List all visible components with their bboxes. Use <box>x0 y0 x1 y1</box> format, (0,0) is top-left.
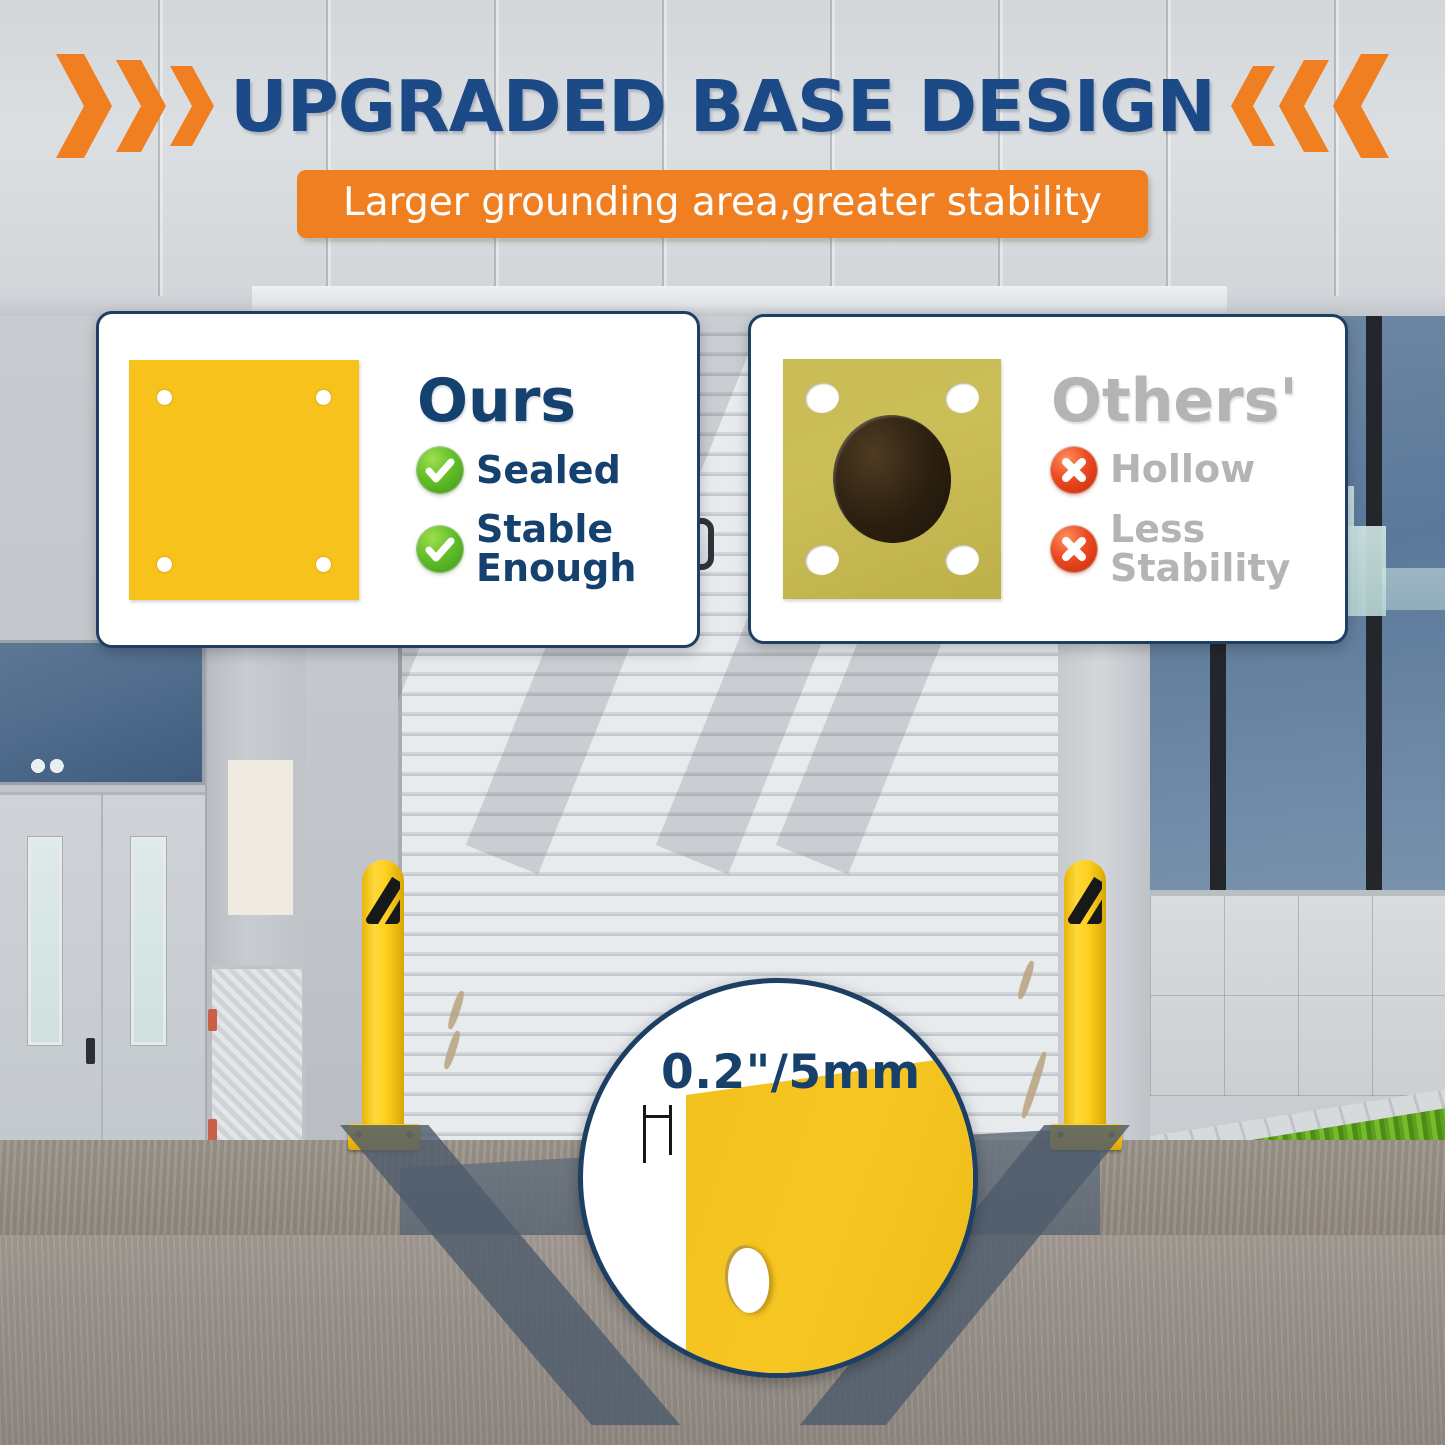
bolt-hole <box>803 380 842 415</box>
bolt-hole <box>803 542 842 577</box>
others-feature-row: Hollow <box>1051 447 1327 493</box>
ours-feature-label: Stable Enough <box>476 510 636 588</box>
bollard-hazard-stripe <box>366 872 400 924</box>
cream-wall-panel <box>228 760 293 915</box>
others-feature-label: Less Stability <box>1110 510 1290 588</box>
others-feature-label: Hollow <box>1110 450 1255 489</box>
bolt-hole <box>157 390 172 405</box>
door-leaf-right <box>103 795 206 1142</box>
ours-feature-label: Sealed <box>476 451 621 490</box>
others-card-title: Others' <box>1051 371 1327 431</box>
ours-card-body: Ours Sealed Stable Enough <box>359 371 679 588</box>
ours-comparison-card: Ours Sealed Stable Enough <box>96 311 700 648</box>
chevrons-left-icon <box>1231 54 1389 158</box>
door-glass-left <box>28 837 62 1045</box>
thickness-measurement-label: 0.2"/5mm <box>661 1045 921 1100</box>
upper-blue-window <box>0 640 205 785</box>
title-row: UPGRADED BASE DESIGN <box>0 54 1445 158</box>
ours-card-title: Ours <box>417 371 679 431</box>
others-plate-image <box>783 359 1001 599</box>
check-circle-icon <box>417 447 463 493</box>
x-circle-icon <box>1051 526 1097 572</box>
hollow-base-plate-with-center-hole <box>783 359 1001 599</box>
header: UPGRADED BASE DESIGN Larger grounding ar… <box>0 54 1445 238</box>
subtitle-banner: Larger grounding area,greater stability <box>297 170 1148 238</box>
bolt-hole <box>943 542 982 577</box>
door-leaf-left <box>0 795 103 1142</box>
bolt-hole <box>316 390 331 405</box>
others-comparison-card: Others' Hollow Less Stability <box>748 314 1348 644</box>
glass-reflection <box>1382 568 1445 610</box>
checker-plate-panel <box>212 965 302 1145</box>
ours-feature-row: Sealed <box>417 447 679 493</box>
stone-base-wall <box>1150 896 1445 1096</box>
bolt-hole <box>943 380 982 415</box>
thickness-caliper-icon <box>643 1105 673 1163</box>
solid-yellow-base-plate <box>129 360 359 600</box>
door-handle <box>86 1038 95 1064</box>
others-feature-row: Less Stability <box>1051 510 1327 588</box>
bolt-hole <box>316 557 331 572</box>
left-safety-bollard <box>348 860 420 1150</box>
check-circle-icon <box>417 526 463 572</box>
chevrons-right-icon <box>56 54 214 158</box>
ours-plate-image <box>129 360 359 600</box>
ours-feature-row: Stable Enough <box>417 510 679 588</box>
subtitle-row: Larger grounding area,greater stability <box>0 170 1445 238</box>
page-title: UPGRADED BASE DESIGN <box>230 65 1215 148</box>
bollard-hazard-stripe <box>1068 872 1102 924</box>
others-card-body: Others' Hollow Less Stability <box>1001 371 1327 588</box>
right-safety-bollard <box>1050 860 1122 1150</box>
x-circle-icon <box>1051 447 1097 493</box>
entrance-double-door <box>0 792 205 1142</box>
center-hole <box>829 411 956 547</box>
door-glass-right <box>131 837 166 1045</box>
bolt-hole <box>157 557 172 572</box>
zoom-callout-circle: 0.2"/5mm <box>578 978 978 1378</box>
